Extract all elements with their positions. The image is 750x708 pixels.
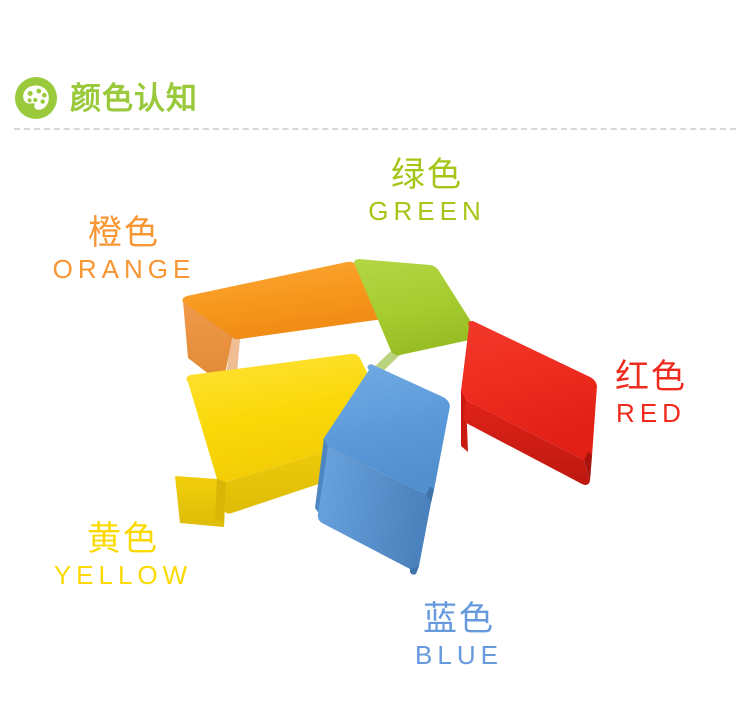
label-blue-en: BLUE [400, 642, 518, 669]
label-orange-en: ORANGE [42, 256, 206, 283]
block-yellow [175, 354, 399, 527]
label-blue: 蓝色 BLUE [400, 602, 518, 669]
page-root: 颜色认知 [0, 0, 750, 708]
label-blue-cn: 蓝色 [400, 602, 518, 638]
label-orange-cn: 橙色 [42, 216, 206, 252]
header-divider [14, 128, 736, 130]
block-blue [315, 364, 450, 575]
label-green-en: GREEN [352, 198, 502, 225]
palette-icon [14, 76, 58, 120]
label-red-en: RED [596, 400, 706, 427]
page-title: 颜色认知 [70, 83, 198, 114]
label-green-cn: 绿色 [352, 158, 502, 194]
block-green [354, 259, 478, 376]
section-header: 颜色认知 [14, 76, 198, 120]
label-yellow-cn: 黄色 [38, 522, 208, 558]
label-red: 红色 RED [596, 360, 706, 427]
block-red [397, 321, 597, 485]
label-yellow-en: YELLOW [38, 562, 208, 589]
label-red-cn: 红色 [596, 360, 706, 396]
label-yellow: 黄色 YELLOW [38, 522, 208, 589]
block-orange [183, 262, 401, 386]
label-orange: 橙色 ORANGE [42, 216, 206, 283]
label-green: 绿色 GREEN [352, 158, 502, 225]
